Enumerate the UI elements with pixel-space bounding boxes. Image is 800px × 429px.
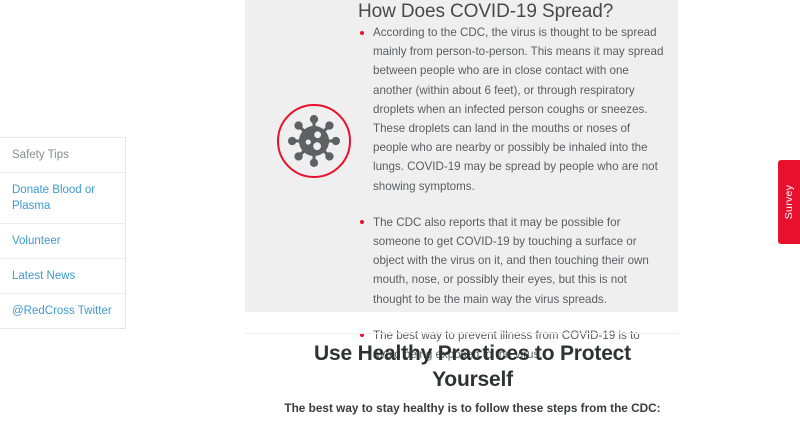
spread-bullet-list: According to the CDC, the virus is thoug… [358, 23, 668, 364]
spread-bullet-2: The CDC also reports that it may be poss… [358, 213, 668, 309]
healthy-practices-title: Use Healthy Practices to Protect Yoursel… [273, 341, 673, 393]
sidebar-link-volunteer[interactable]: Volunteer [0, 224, 125, 259]
coronavirus-badge [277, 104, 351, 178]
page-root: Safety Tips Donate Blood or Plasma Volun… [0, 0, 800, 429]
spread-section-title: How Does COVID-19 Spread? [358, 0, 613, 24]
section-divider [245, 333, 678, 334]
healthy-practices-section: Use Healthy Practices to Protect Yoursel… [245, 341, 700, 429]
sidebar-heading: Safety Tips [0, 138, 125, 173]
sidebar-link-donate-blood-or-plasma[interactable]: Donate Blood or Plasma [0, 173, 125, 224]
how-covid-spreads-panel: How Does COVID-19 Spread? [245, 0, 678, 312]
bullet-dot-icon [360, 220, 364, 224]
sidebar-link-redcross-twitter[interactable]: @RedCross Twitter [0, 294, 125, 328]
spread-bullet-1: According to the CDC, the virus is thoug… [358, 23, 668, 196]
survey-tab-button[interactable]: Survey [778, 160, 800, 244]
spread-bullet-2-text: The CDC also reports that it may be poss… [373, 216, 649, 306]
bullet-dot-icon [360, 31, 364, 35]
survey-tab-label: Survey [783, 185, 795, 219]
spread-bullet-1-text: According to the CDC, the virus is thoug… [373, 26, 663, 193]
safety-tips-sidebar: Safety Tips Donate Blood or Plasma Volun… [0, 137, 126, 329]
sidebar-link-latest-news[interactable]: Latest News [0, 259, 125, 294]
coronavirus-icon [288, 115, 340, 167]
healthy-practices-subtitle: The best way to stay healthy is to follo… [263, 400, 683, 417]
